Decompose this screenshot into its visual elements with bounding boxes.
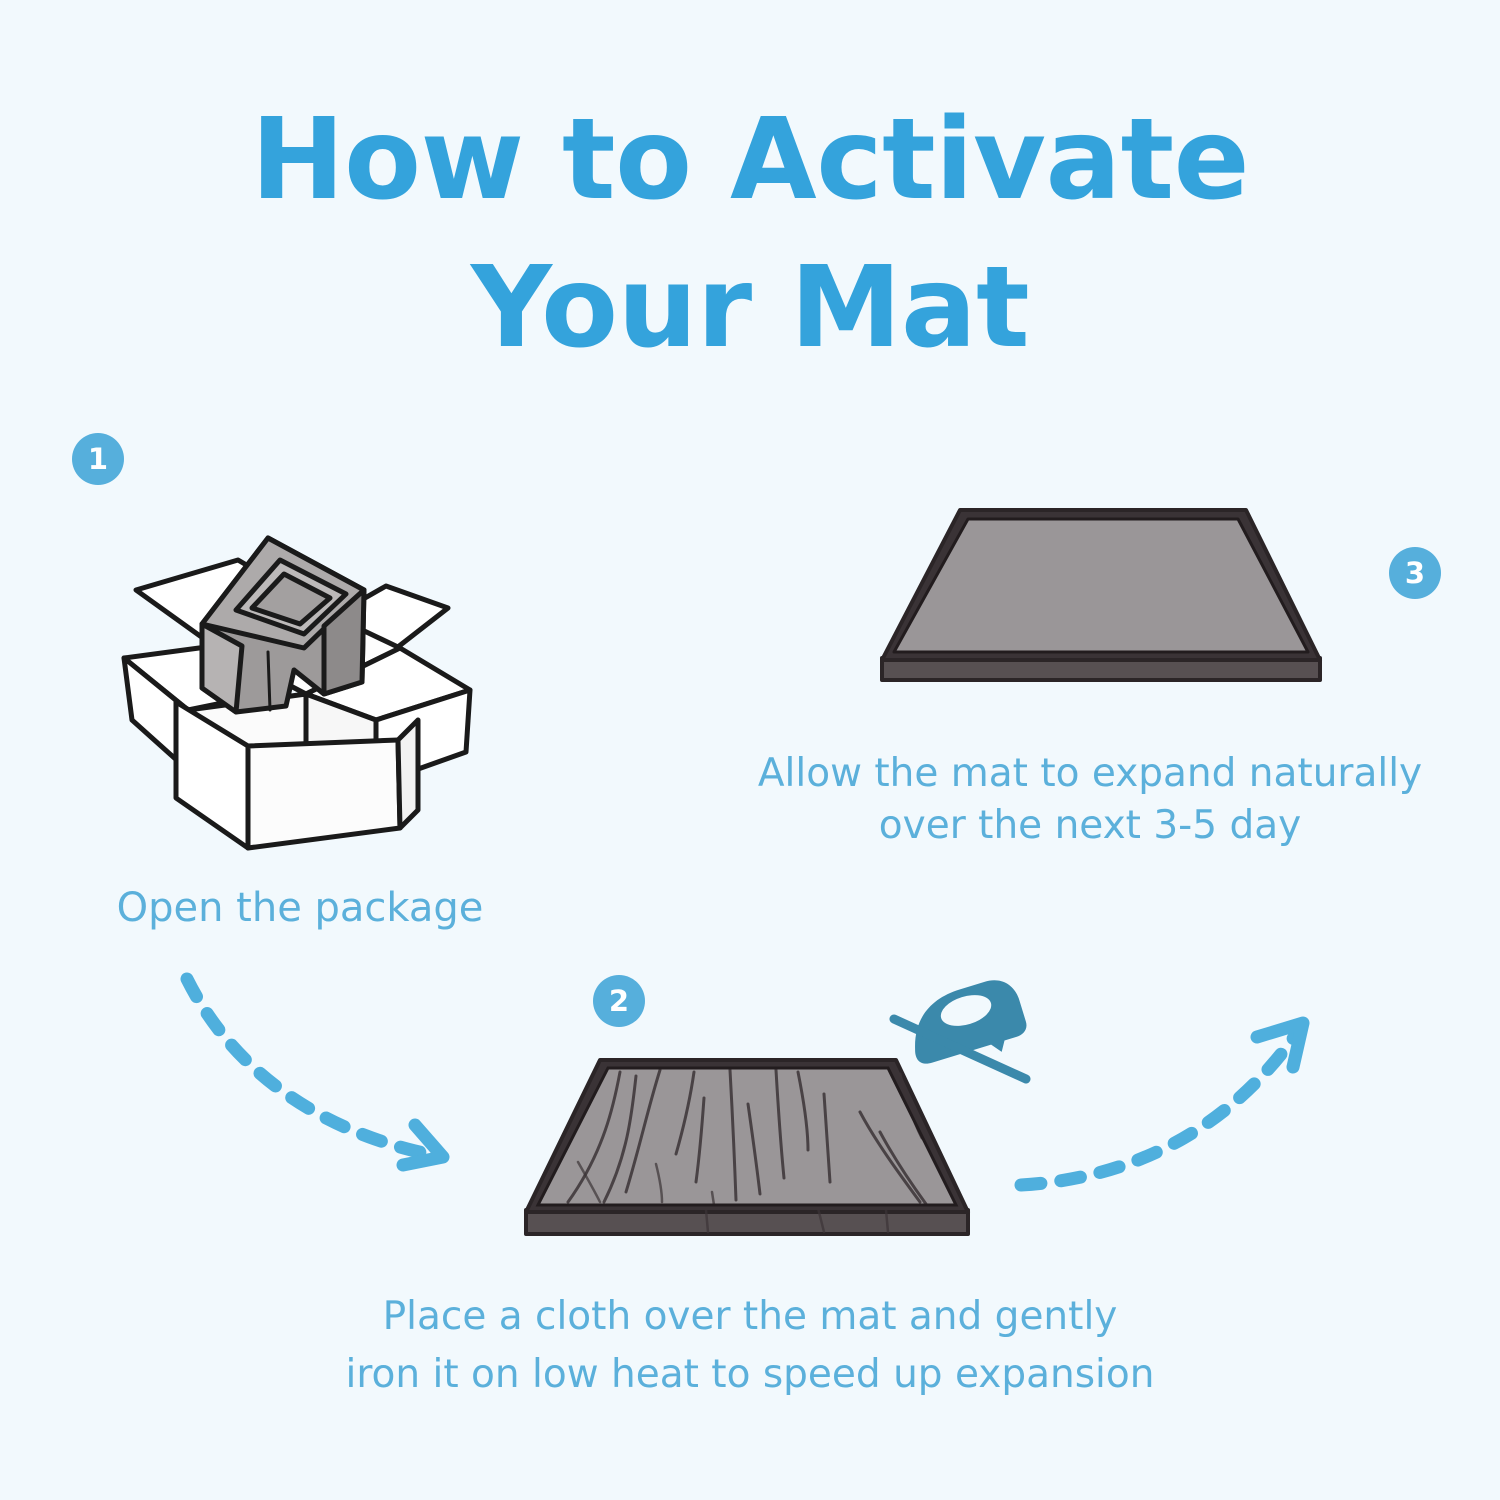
cardboard-box-icon xyxy=(118,498,488,858)
flat-mat-illustration xyxy=(868,492,1348,692)
arrow-step2-to-step3 xyxy=(1005,995,1335,1215)
infographic-canvas: How to Activate Your Mat 1 xyxy=(0,0,1500,1500)
step-3-caption: Allow the mat to expand naturally over t… xyxy=(690,748,1490,852)
page-title: How to Activate Your Mat xyxy=(0,86,1500,382)
dashed-curved-arrow-up-right-icon xyxy=(1005,995,1335,1215)
flat-mat-icon xyxy=(868,492,1348,692)
step-3-badge: 3 xyxy=(1389,547,1441,599)
step-1-badge: 1 xyxy=(72,433,124,485)
step-2-badge: 2 xyxy=(593,975,645,1027)
arrow-step1-to-step2 xyxy=(175,965,505,1205)
title-line-2: Your Mat xyxy=(0,234,1500,382)
step-1-caption: Open the package xyxy=(40,882,560,935)
title-line-1: How to Activate xyxy=(0,86,1500,234)
step-2-caption: Place a cloth over the mat and gently ir… xyxy=(270,1288,1230,1404)
dashed-curved-arrow-down-right-icon xyxy=(175,965,505,1205)
cardboard-box-illustration xyxy=(118,498,488,858)
